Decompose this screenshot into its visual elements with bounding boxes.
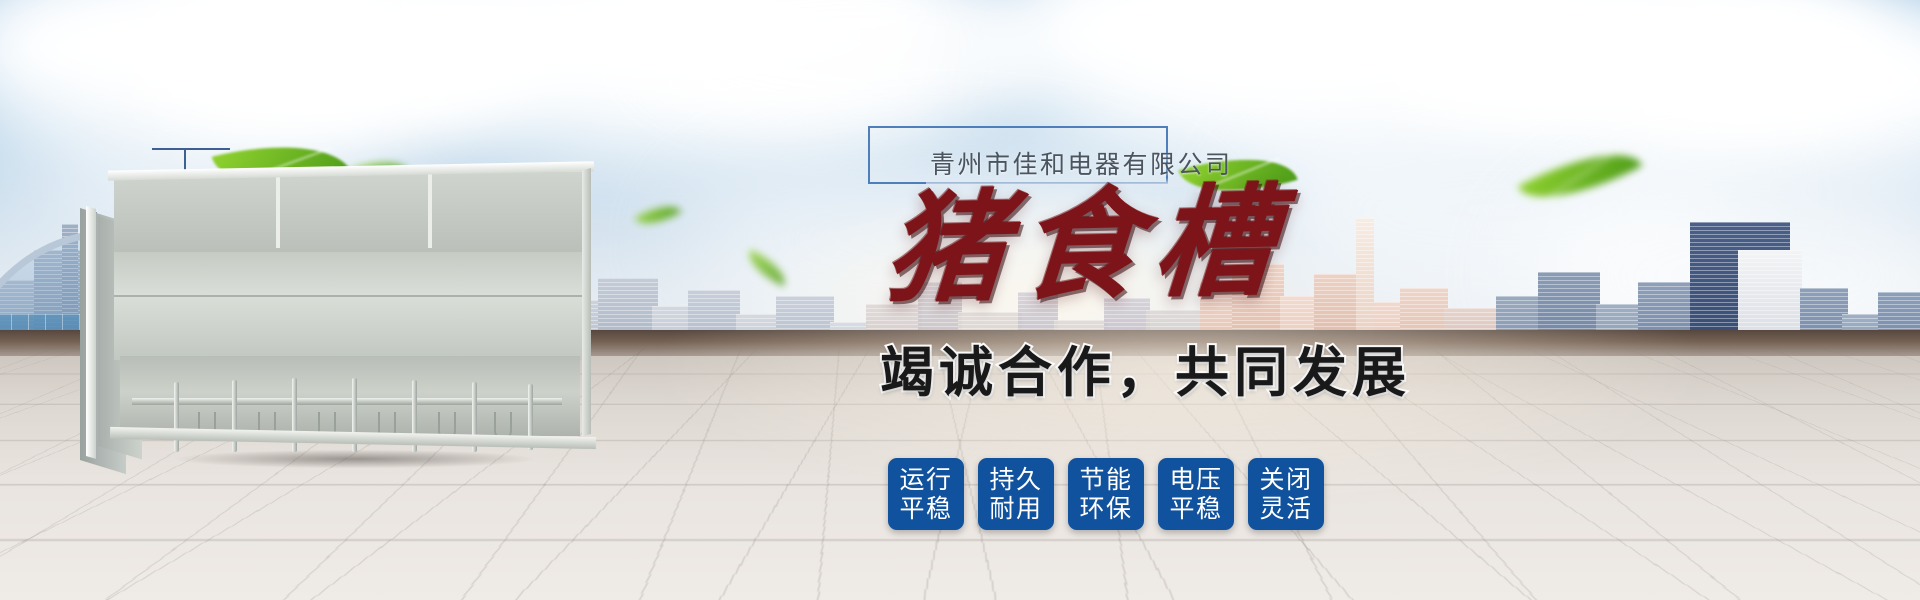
product-banner: 青州市佳和电器有限公司 猪食槽 竭诚合作，共同发展 运行 平稳 持久 耐用 节能… xyxy=(0,0,1920,600)
badge-line-2: 环保 xyxy=(1079,494,1132,524)
badge-line-1: 电压 xyxy=(1169,465,1222,495)
feature-badge[interactable]: 持久 耐用 xyxy=(978,458,1054,530)
feature-badge-list: 运行 平稳 持久 耐用 节能 环保 电压 平稳 关闭 灵活 xyxy=(888,458,1324,530)
badge-line-1: 持久 xyxy=(989,465,1042,495)
feature-badge[interactable]: 电压 平稳 xyxy=(1158,458,1234,530)
stainless-steel-feeder-trough xyxy=(80,160,600,460)
feature-badge[interactable]: 运行 平稳 xyxy=(888,458,964,530)
badge-line-1: 运行 xyxy=(899,465,952,495)
badge-line-2: 耐用 xyxy=(989,494,1042,524)
badge-line-2: 平稳 xyxy=(899,494,952,524)
badge-line-2: 灵活 xyxy=(1259,494,1312,524)
badge-line-2: 平稳 xyxy=(1169,494,1222,524)
badge-line-1: 关闭 xyxy=(1259,465,1312,495)
slogan-subtitle: 竭诚合作，共同发展 xyxy=(880,346,1411,400)
page-title: 猪食槽 xyxy=(882,182,1293,310)
feature-badge[interactable]: 节能 环保 xyxy=(1068,458,1144,530)
crane-jib xyxy=(152,148,230,150)
badge-line-1: 节能 xyxy=(1079,465,1132,495)
feature-badge[interactable]: 关闭 灵活 xyxy=(1248,458,1324,530)
